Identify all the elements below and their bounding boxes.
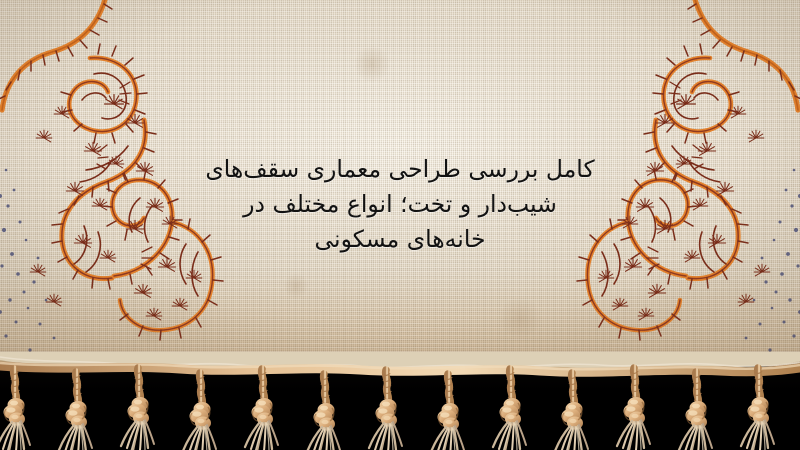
navy-speckle <box>745 159 800 352</box>
title-line-2: شیب‌دار و تخت؛ انواع مختلف در <box>185 187 615 222</box>
title-card-stage: کامل بررسی طراحی معماری سقف‌های شیب‌دار … <box>0 0 800 450</box>
tassel-fringe <box>0 360 800 450</box>
tassel-row <box>0 368 774 450</box>
navy-speckle <box>0 159 55 352</box>
title-line-1: کامل بررسی طراحی معماری سقف‌های <box>185 152 615 187</box>
page-title: کامل بررسی طراحی معماری سقف‌های شیب‌دار … <box>185 152 615 257</box>
title-line-3: خانه‌های مسکونی <box>185 222 615 257</box>
